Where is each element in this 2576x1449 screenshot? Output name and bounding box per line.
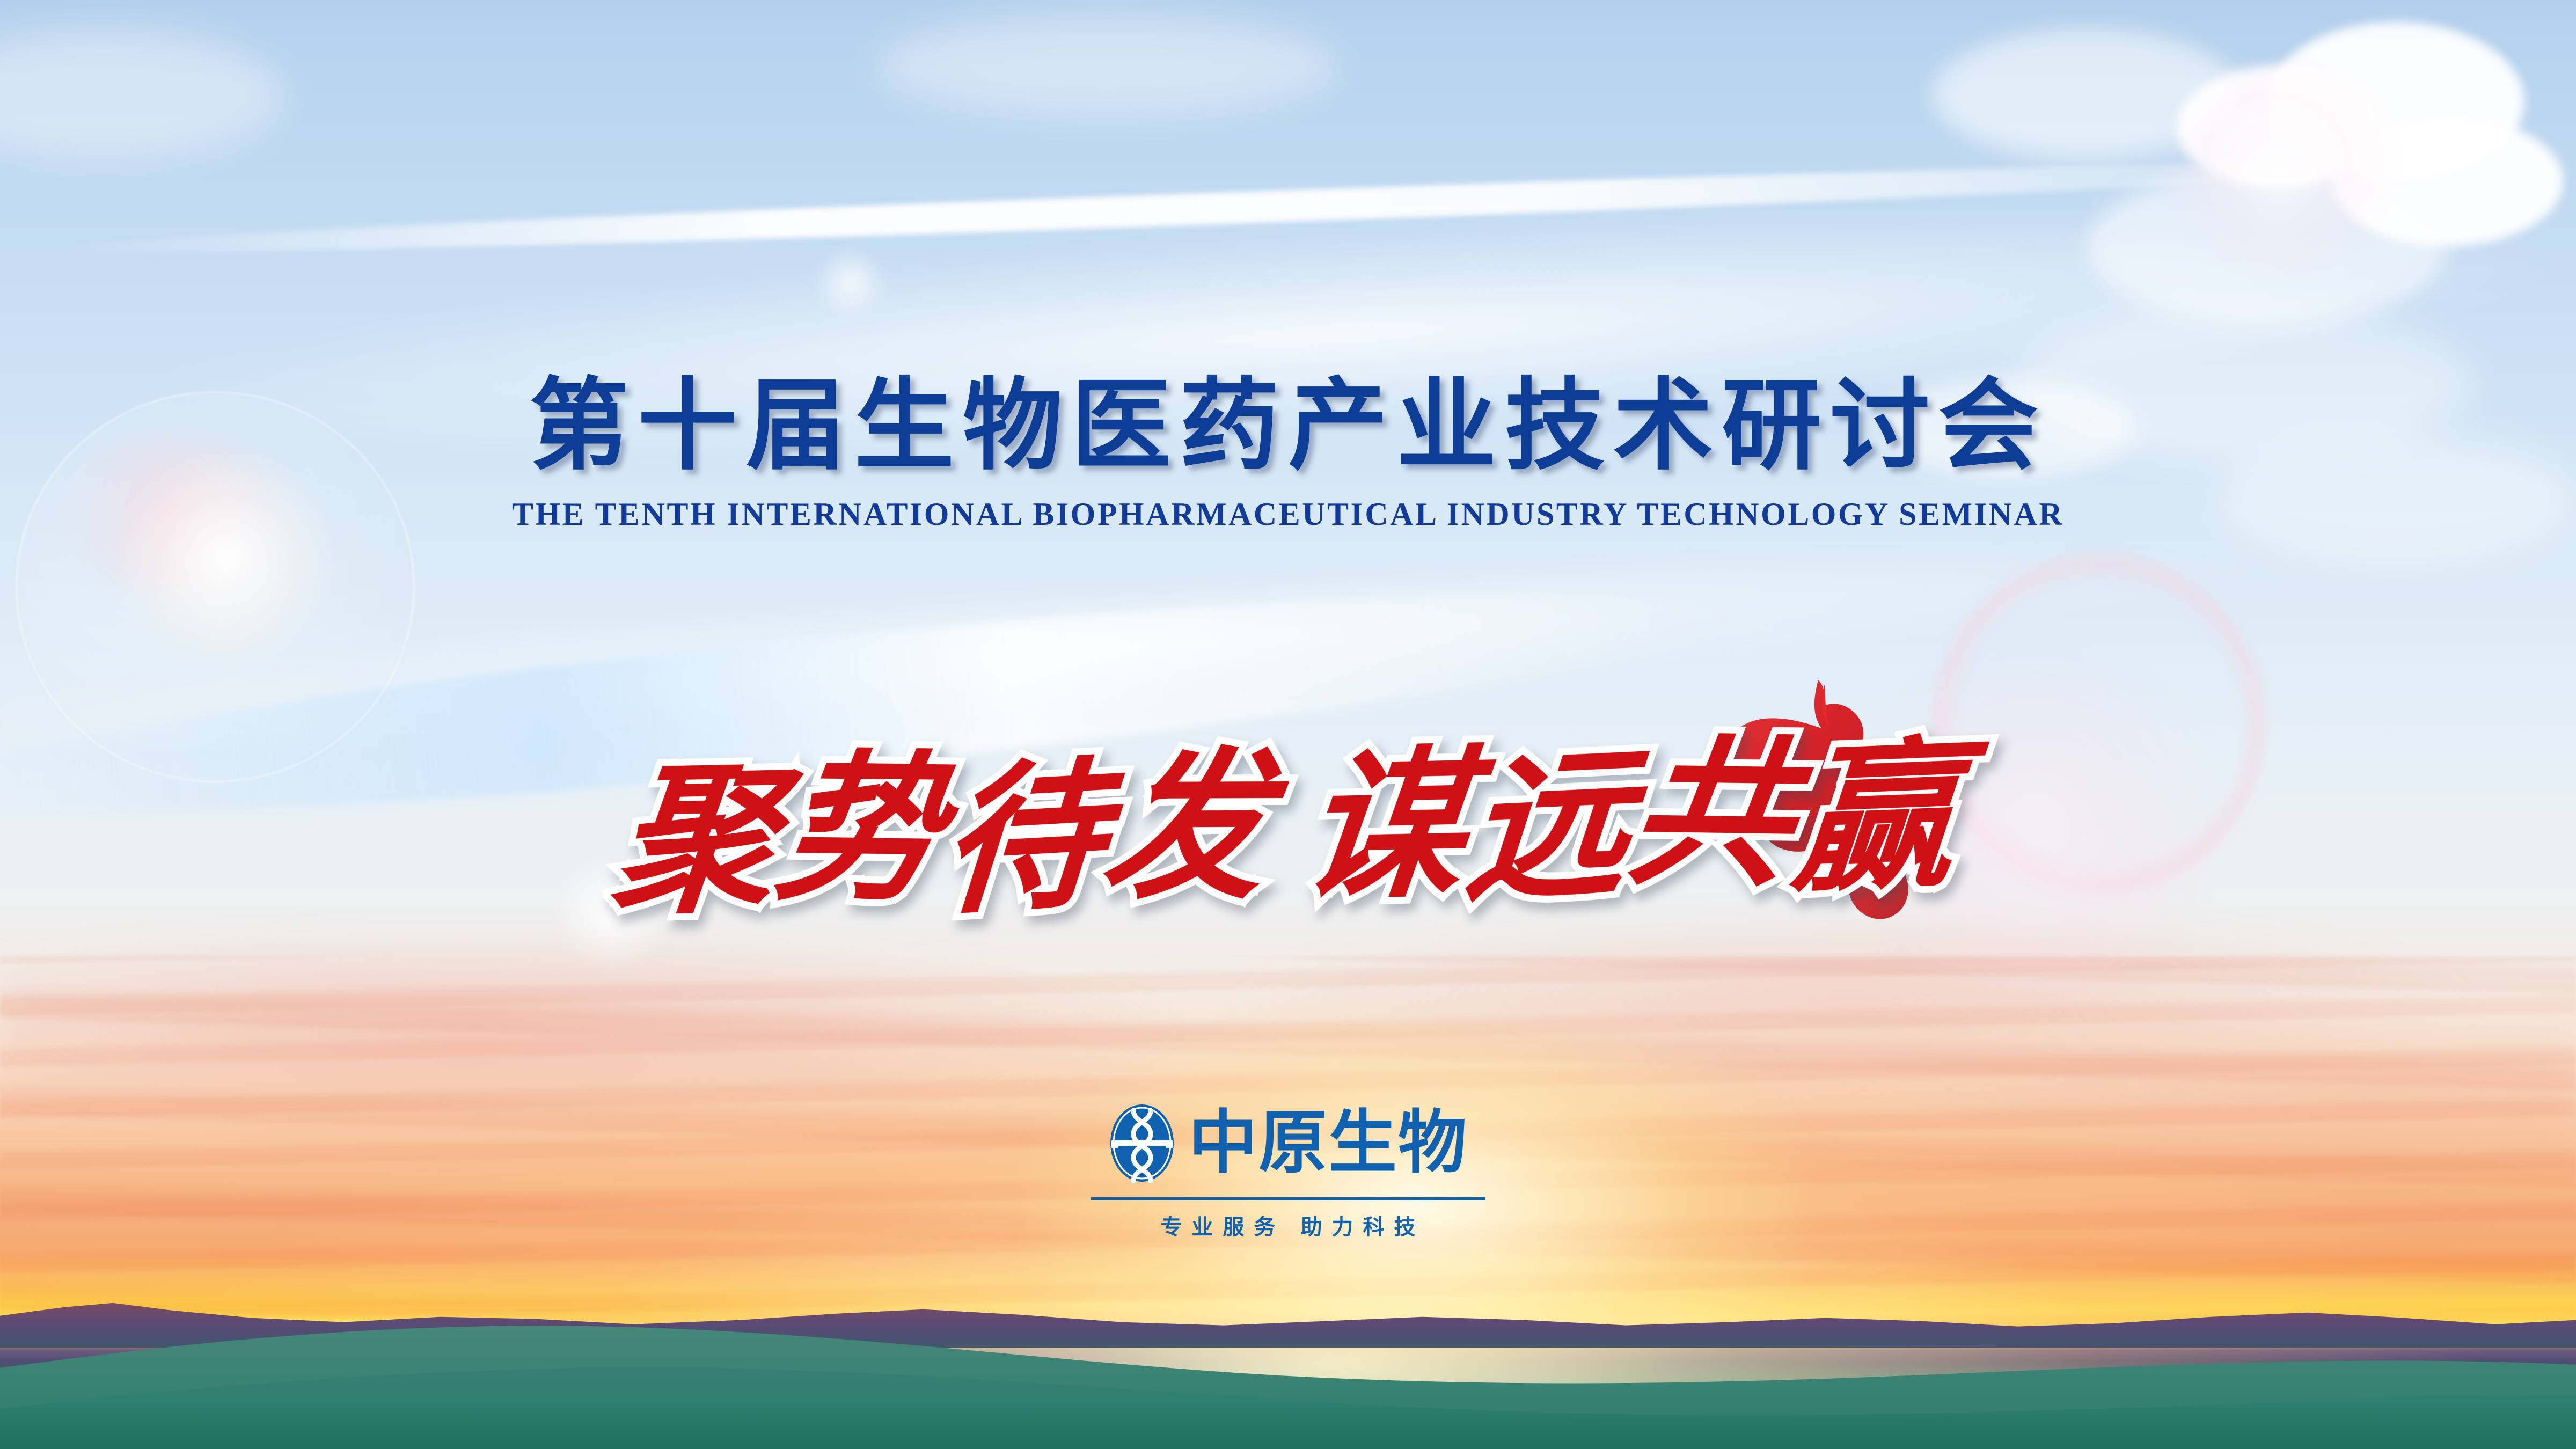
dna-helix-oval-emblem-icon [1108,1103,1176,1183]
poster-stage: 第十届生物医药产业技术研讨会 THE TENTH INTERNATIONAL B… [0,0,2576,1449]
lens-flare-upper-right [2164,58,2396,275]
page-title: 第十届生物医药产业技术研讨会 [0,370,2576,482]
cloud-wisp-icon [876,14,1340,116]
logo-company-name: 中原生物 [1189,1109,1468,1177]
lens-flare-center-pink [1855,638,2215,1014]
company-logo[interactable]: 中原生物 专业服务 助力科技 [0,1103,2576,1241]
green-hills [0,1319,2576,1449]
title-block: 第十届生物医药产业技术研讨会 THE TENTH INTERNATIONAL B… [0,370,2576,533]
logo-divider [1091,1197,1485,1200]
lens-flare-dot [811,246,889,319]
logo-tagline: 专业服务 助力科技 [1151,1210,1425,1241]
lens-flare-dot [554,855,670,971]
page-subtitle-english: THE TENTH INTERNATIONAL BIOPHARMACEUTICA… [0,496,2576,533]
logo-row: 中原生物 [1108,1103,1468,1183]
